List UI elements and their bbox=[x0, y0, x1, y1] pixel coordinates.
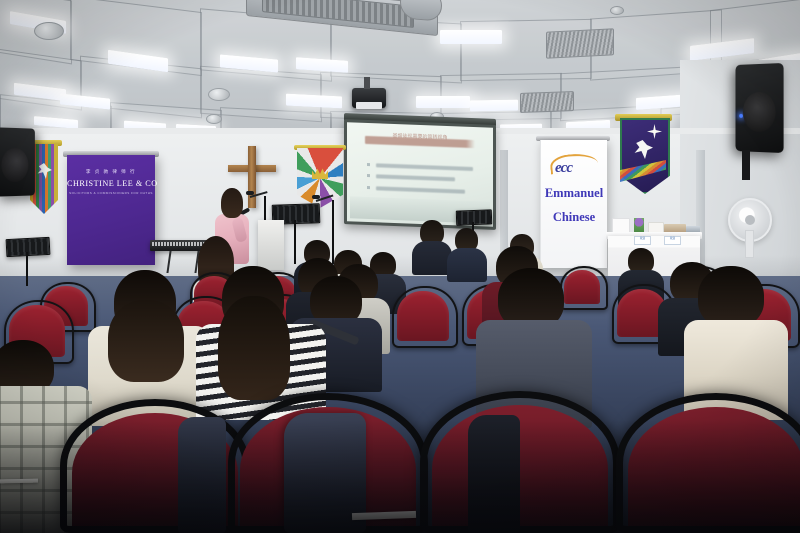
speaker-mount-bracket bbox=[742, 150, 750, 180]
lectern bbox=[258, 220, 284, 270]
slide-bullet-line bbox=[376, 175, 455, 182]
ceiling-light-panel bbox=[416, 96, 470, 108]
table-sign: 欢迎 bbox=[634, 236, 651, 245]
music-stand-desk bbox=[456, 209, 493, 225]
long-hair bbox=[218, 296, 290, 400]
smoke-detector-icon bbox=[208, 88, 230, 101]
christine-lee-main-text: CHRISTINE LEE & CO bbox=[67, 179, 155, 188]
foreground-shadow bbox=[0, 420, 800, 533]
ceiling-vent bbox=[546, 28, 614, 59]
fan-support-arm bbox=[745, 230, 754, 258]
singer-hair bbox=[221, 188, 243, 218]
pa-speaker-right bbox=[736, 63, 784, 153]
attendee-torso bbox=[412, 241, 452, 275]
pa-speaker-left bbox=[0, 127, 35, 196]
ceiling-light-panel bbox=[470, 100, 518, 112]
table-sign-text: 欢迎 bbox=[635, 237, 650, 241]
music-stand-pole bbox=[26, 252, 28, 286]
mic-stand-pole bbox=[332, 200, 334, 264]
ceiling-speaker-icon bbox=[610, 6, 624, 15]
ceiling-light-panel bbox=[440, 30, 502, 44]
wall-column bbox=[500, 150, 508, 260]
microphone-icon bbox=[312, 195, 320, 199]
christine-lee-banner: 李 贞 驹 律 师 行 CHRISTINE LEE & CO SOLICITOR… bbox=[67, 155, 155, 265]
attendee-torso bbox=[447, 248, 487, 282]
attendee-head bbox=[698, 266, 764, 328]
music-stand-pole bbox=[294, 220, 296, 264]
slide-bullet-marker bbox=[367, 174, 370, 177]
slide-bullet-line bbox=[376, 187, 465, 194]
table-sign-text: 欢迎 bbox=[665, 237, 680, 241]
church-service-photo: 基督徒现需要的管转视角 李 贞 驹 律 师 行 CHRISTINE LEE & … bbox=[0, 0, 800, 533]
smoke-detector-icon bbox=[34, 22, 64, 40]
smoke-detector-icon bbox=[206, 114, 222, 124]
flower-vase bbox=[634, 218, 644, 232]
ecc-line2-text: Chinese bbox=[541, 210, 607, 225]
music-stand-desk bbox=[6, 237, 51, 257]
slide-bullet-marker bbox=[367, 186, 370, 189]
speaker-led-icon bbox=[739, 114, 743, 118]
wooden-cross-vertical bbox=[248, 146, 256, 208]
long-hair bbox=[108, 300, 184, 382]
chair-back bbox=[397, 291, 449, 341]
chair-back bbox=[564, 270, 600, 304]
christine-lee-chinese-text: 李 贞 驹 律 师 行 bbox=[67, 169, 155, 175]
ecc-logo-text: ecc bbox=[555, 160, 621, 177]
slide-bullet-marker bbox=[367, 163, 370, 166]
keyboard-stand bbox=[166, 251, 199, 273]
ecc-banner: ecc Emmanuel Chinese bbox=[540, 140, 607, 268]
ceiling-vent bbox=[520, 91, 574, 113]
table-sign: 欢迎 bbox=[664, 236, 681, 245]
christine-lee-sub-text: SOLICITORS & COMMISSIONERS FOR OATHS bbox=[67, 191, 155, 195]
ceiling-projector bbox=[352, 88, 386, 108]
slide-bullet-line bbox=[376, 163, 472, 171]
fan-hub bbox=[745, 215, 755, 225]
ecc-line1-text: Emmanuel bbox=[541, 186, 607, 201]
